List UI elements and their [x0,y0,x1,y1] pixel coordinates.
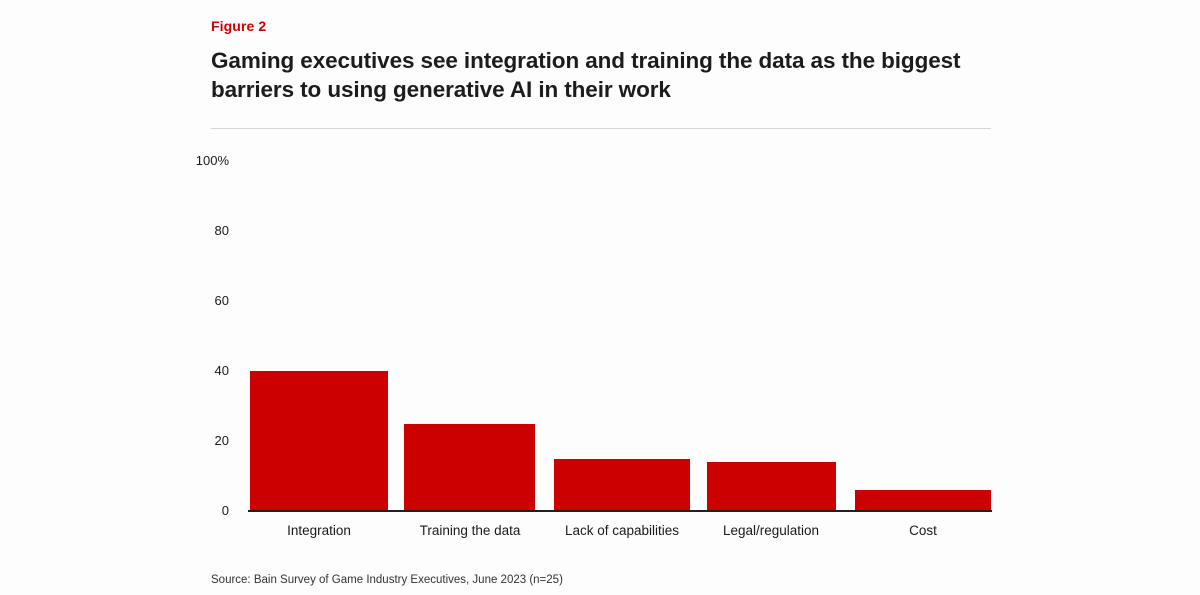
x-axis-line [248,510,992,512]
figure-container: Figure 2 Gaming executives see integrati… [0,0,1200,595]
bar-training-the-data[interactable] [404,424,535,512]
x-label-legal-regulation: Legal/regulation [697,523,845,539]
source-note: Source: Bain Survey of Game Industry Exe… [211,573,563,587]
bar-legal-regulation[interactable] [707,462,836,511]
x-label-integration: Integration [245,523,393,539]
bars-layer [0,0,1200,595]
chart-plot-area: 100% 80 60 40 20 0 Integration Training … [0,0,1200,595]
x-label-cost: Cost [849,523,997,539]
x-label-training-the-data: Training the data [396,523,544,539]
bar-integration[interactable] [250,371,388,511]
bar-cost[interactable] [855,490,991,511]
x-label-lack-of-capabilities: Lack of capabilities [548,523,696,539]
bar-lack-of-capabilities[interactable] [554,459,690,512]
